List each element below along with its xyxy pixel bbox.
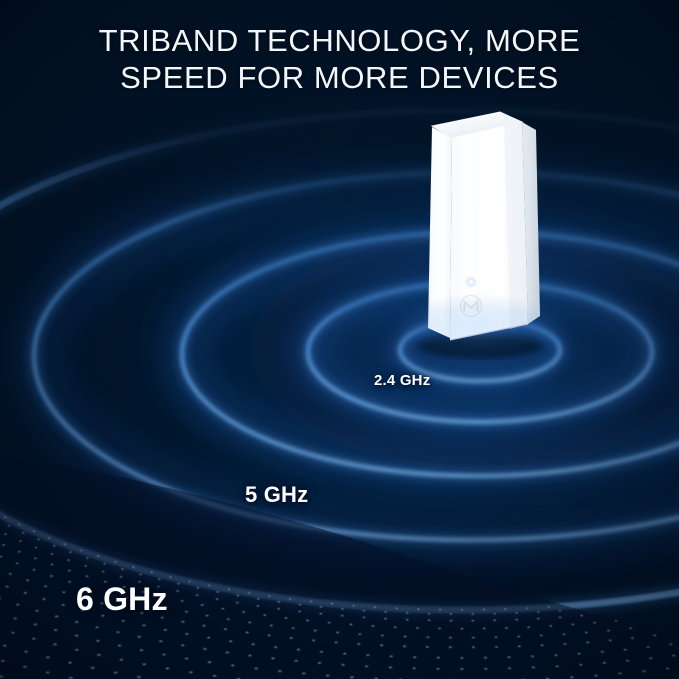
mesh-router <box>404 100 554 360</box>
headline-line-2: SPEED FOR MORE DEVICES <box>0 59 679 96</box>
headline-line-1: TRIBAND TECHNOLOGY, MORE <box>99 23 581 58</box>
product-marketing-image: TRIBAND TECHNOLOGY, MORE SPEED FOR MORE … <box>0 0 679 679</box>
band-label-6ghz: 6 GHz <box>76 581 168 618</box>
router-base-glow <box>364 280 594 370</box>
page-title: TRIBAND TECHNOLOGY, MORE SPEED FOR MORE … <box>0 22 679 96</box>
band-label-2-4ghz: 2.4 GHz <box>374 372 430 389</box>
band-label-5ghz: 5 GHz <box>245 482 308 508</box>
